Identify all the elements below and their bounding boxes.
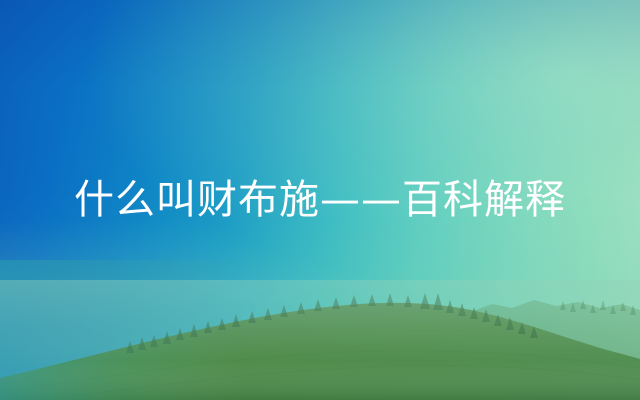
- banner-image: 什么叫财布施——百科解释: [0, 0, 640, 400]
- title-container: 什么叫财布施——百科解释: [0, 0, 640, 400]
- page-title: 什么叫财布施——百科解释: [74, 177, 566, 223]
